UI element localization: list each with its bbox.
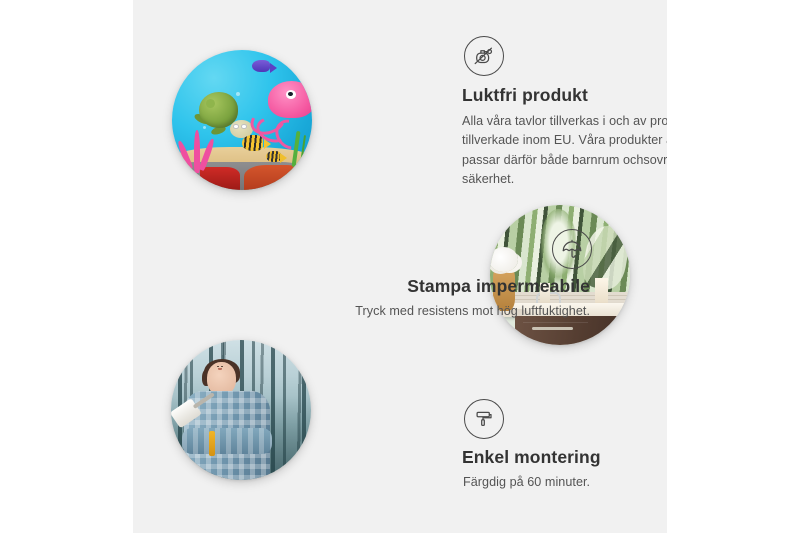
octopus-illustration xyxy=(253,81,312,145)
woman-with-paint-roller-forest-medallion xyxy=(171,340,311,480)
no-fragrance-bottle-icon xyxy=(464,36,504,76)
woman-illustration xyxy=(182,362,272,480)
feature-easy-mounting: Enkel montering Färgdig på 60 minuter. xyxy=(458,399,667,492)
content-panel: Luktfri produkt Alla våra tavlor tillver… xyxy=(133,0,667,533)
feature-description: Färgdig på 60 minuter. xyxy=(463,473,667,493)
fish-illustration xyxy=(242,135,263,150)
sea-background xyxy=(172,50,312,190)
umbrella-icon xyxy=(552,229,592,269)
feature-title: Enkel montering xyxy=(462,447,667,469)
coral-illustration xyxy=(175,128,223,173)
paint-roller-icon xyxy=(464,399,504,439)
underwater-kids-scene-medallion xyxy=(172,50,312,190)
fish-illustration xyxy=(266,151,281,162)
feature-description: Alla våra tavlor tillverkas i och av pro… xyxy=(462,112,667,190)
feature-title: Luktfri produkt xyxy=(462,85,667,107)
forest-wallpaper-background xyxy=(171,340,311,480)
fish-illustration xyxy=(252,60,270,73)
feature-waterproof-print: Stampa impermeabile Tryck med resistens … xyxy=(298,229,596,321)
feature-description: Tryck med resistens mot hög luftfuktighe… xyxy=(298,302,590,322)
feature-odour-free: Luktfri produkt Alla våra tavlor tillver… xyxy=(458,36,667,190)
infographic-canvas: Luktfri produkt Alla våra tavlor tillver… xyxy=(0,0,800,533)
feature-title: Stampa impermeabile xyxy=(298,276,590,298)
